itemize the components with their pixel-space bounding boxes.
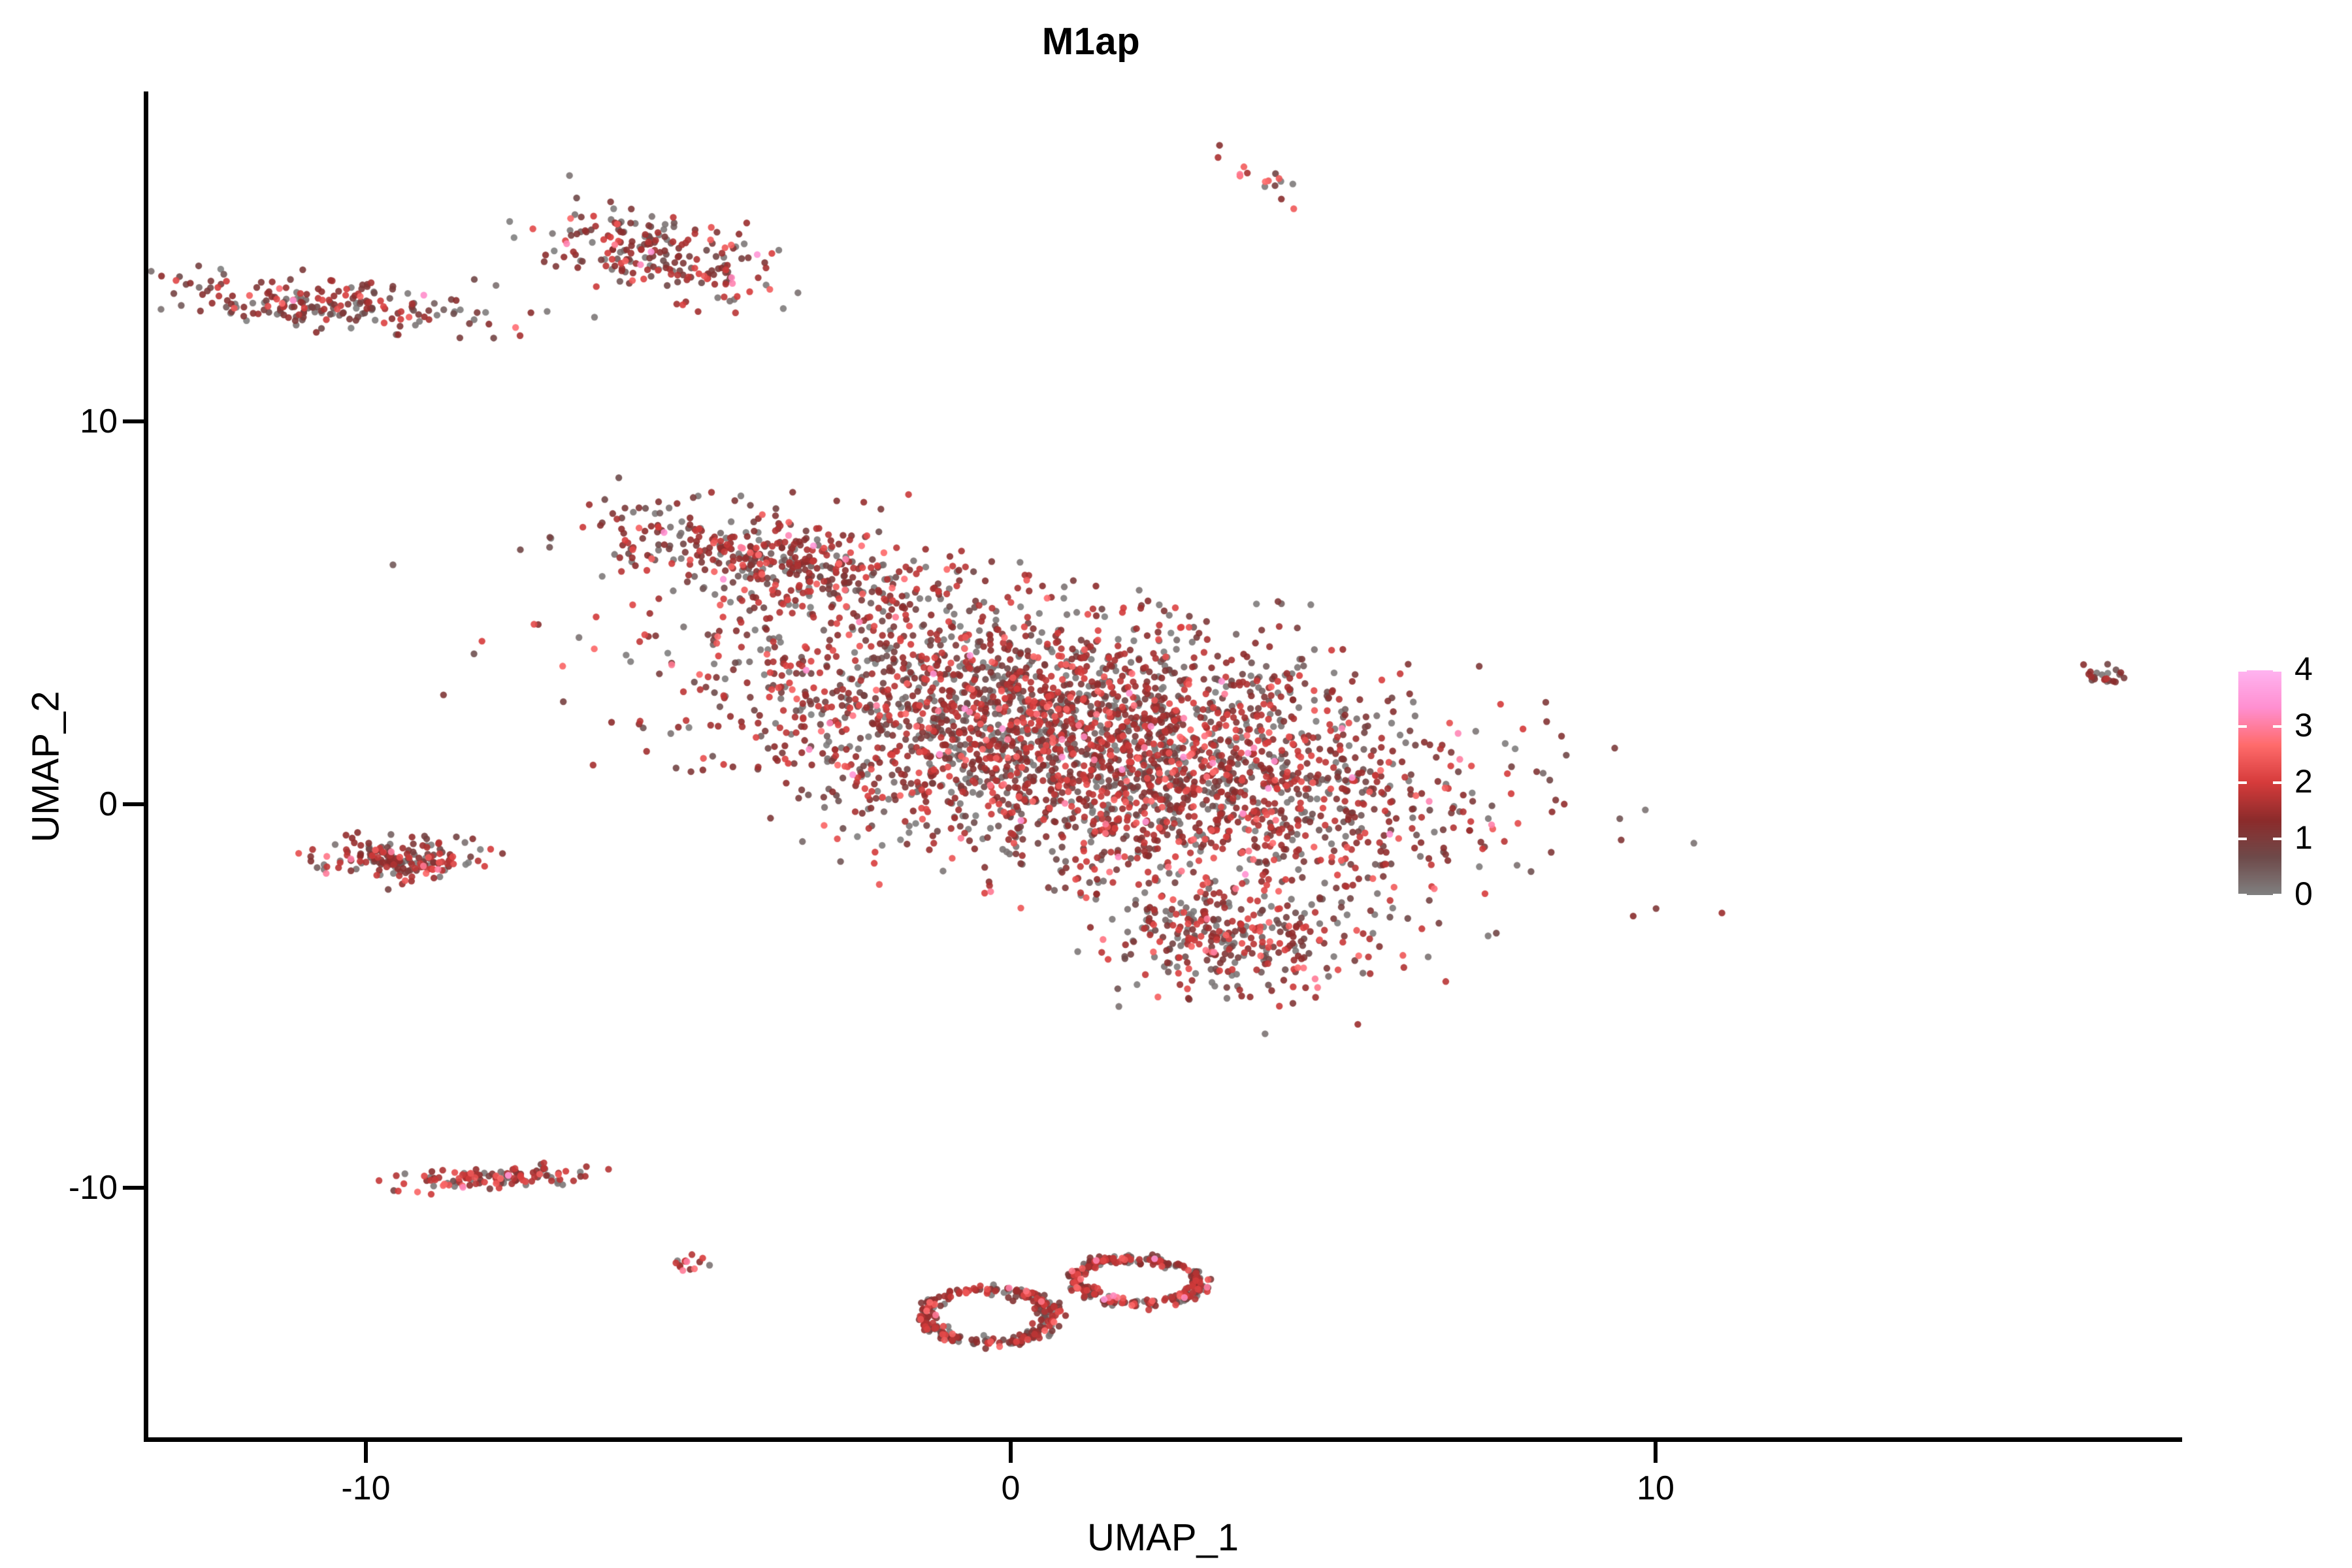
y-tick-label: -10: [69, 1168, 118, 1207]
legend-tick-mark: [2273, 781, 2281, 784]
legend-tick-label: 0: [2295, 877, 2313, 910]
legend-tick-mark: [2273, 669, 2281, 672]
y-tick-mark: [123, 802, 144, 806]
x-tick-label: 10: [1558, 1469, 1754, 1508]
x-tick-label: 0: [913, 1469, 1109, 1508]
legend-tick-label: 1: [2295, 821, 2313, 854]
legend-tick-mark: [2238, 669, 2247, 672]
y-tick-label: 0: [99, 785, 118, 824]
x-tick-mark: [1009, 1441, 1013, 1463]
legend-tick-mark: [2238, 781, 2247, 784]
scatter-point-canvas: [0, 0, 2352, 1568]
legend-tick-mark: [2273, 838, 2281, 840]
legend-tick-mark: [2273, 725, 2281, 728]
y-tick-mark: [123, 419, 144, 423]
x-axis-line: [144, 1437, 2182, 1442]
y-axis-title: UMAP_2: [24, 375, 68, 1159]
legend-tick-mark: [2238, 894, 2247, 896]
x-tick-mark: [364, 1441, 368, 1463]
x-tick-mark: [1654, 1441, 1658, 1463]
page-title: M1ap: [0, 20, 2182, 63]
legend-tick-mark: [2273, 894, 2281, 896]
y-tick-mark: [123, 1186, 144, 1190]
legend-tick-label: 2: [2295, 765, 2313, 798]
legend-tick-label: 4: [2295, 653, 2313, 685]
umap-feature-plot: M1ap 100-10 -10010 UMAP_1 UMAP_2 43210: [0, 0, 2352, 1568]
y-tick-label: 10: [80, 402, 118, 441]
legend-tick-mark: [2238, 838, 2247, 840]
y-axis-line: [144, 91, 148, 1439]
x-axis-title: UMAP_1: [144, 1516, 2182, 1560]
x-tick-label: -10: [268, 1469, 464, 1508]
legend-tick-mark: [2238, 725, 2247, 728]
legend-tick-label: 3: [2295, 709, 2313, 742]
